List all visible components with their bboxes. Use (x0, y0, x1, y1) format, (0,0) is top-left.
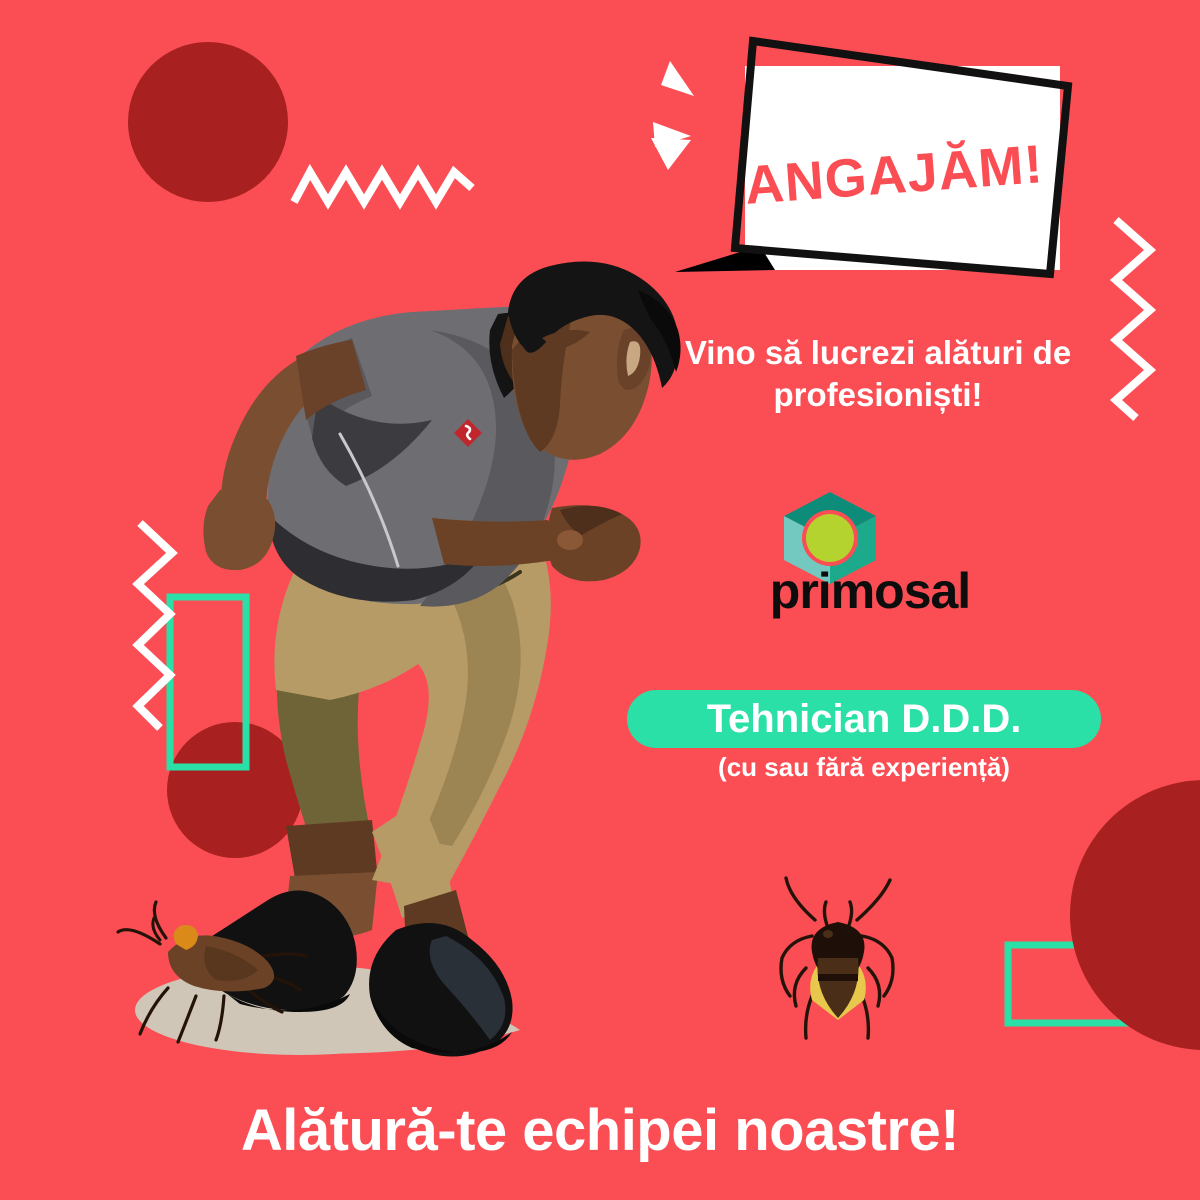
white-triangle-cluster (651, 61, 694, 170)
white-zigzag-horizontal (294, 172, 472, 202)
poster-canvas: ANGAJĂM! Vino să lucrezi alături de prof… (0, 0, 1200, 1200)
footer-call-to-action: Alătură-te echipei noastre! (0, 1097, 1200, 1164)
role-title: Tehnician D.D.D. (707, 697, 1022, 742)
white-triangle-1 (661, 61, 694, 96)
teal-outline-rectangle-left (170, 597, 246, 767)
role-experience-note: (cu sau fără experiență) (627, 752, 1101, 783)
primosal-wordmark: primosal (740, 562, 1000, 620)
role-pill: Tehnician D.D.D. (627, 690, 1101, 748)
subtitle-line-1: Vino să lucrezi alături de (636, 332, 1120, 374)
white-triangle-3 (651, 138, 691, 170)
white-zigzag-vertical-right (1116, 220, 1150, 418)
subtitle-block: Vino să lucrezi alături de profesioniști… (636, 332, 1120, 416)
logo-circle (806, 514, 854, 562)
subtitle-line-2: profesioniști! (636, 374, 1120, 416)
